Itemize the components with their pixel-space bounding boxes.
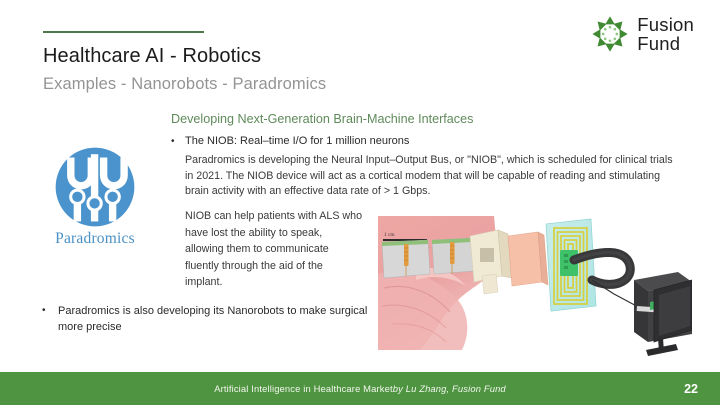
title-accent-rule [43, 31, 204, 33]
brand-line-1: Fusion [637, 15, 694, 34]
bullet-item-nanorobots-label: Paradromics is also developing its Nanor… [58, 303, 372, 335]
paradromics-wordmark: Paradromics [45, 230, 145, 248]
bullet-item-niob: • The NIOB: Real–time I/O for 1 million … [171, 134, 681, 149]
footer-caption: Artificial Intelligence in Healthcare Ma… [0, 372, 720, 405]
paragraph-niob-description: Paradromics is developing the Neural Inp… [185, 153, 680, 200]
brand-line-2: Fund [637, 34, 694, 53]
footer-caption-italic: by Lu Zhang, Fusion Fund [393, 383, 506, 394]
section-heading: Developing Next-Generation Brain-Machine… [171, 111, 473, 127]
fusion-fund-wordmark: Fusion Fund [637, 15, 694, 54]
bullet-item-niob-label: The NIOB: Real–time I/O for 1 million ne… [185, 134, 409, 149]
footer-bar: Artificial Intelligence in Healthcare Ma… [0, 372, 720, 405]
paradromics-logo: Paradromics [45, 146, 145, 248]
bullet-marker-icon: • [42, 303, 58, 335]
footer-caption-plain: Artificial Intelligence in Healthcare Ma… [214, 383, 393, 394]
bmi-diagram-figure: 1 cm [376, 214, 692, 358]
bullet-marker-icon: • [171, 134, 185, 149]
fusion-fund-starburst-icon [590, 14, 630, 54]
page-title: Healthcare AI - Robotics [43, 44, 261, 68]
page-subtitle: Examples - Nanorobots - Paradromics [43, 74, 326, 94]
paradromics-circle-icon [54, 146, 136, 228]
page-number: 22 [684, 372, 698, 405]
scale-bar-label: 1 cm [384, 232, 395, 238]
bullet-item-nanorobots: • Paradromics is also developing its Nan… [42, 303, 372, 335]
fusion-fund-logo: Fusion Fund [590, 14, 694, 54]
slide-canvas: Healthcare AI - Robotics Examples - Nano… [0, 0, 720, 405]
paragraph-als-benefit: NIOB can help patients with ALS who have… [185, 208, 363, 291]
